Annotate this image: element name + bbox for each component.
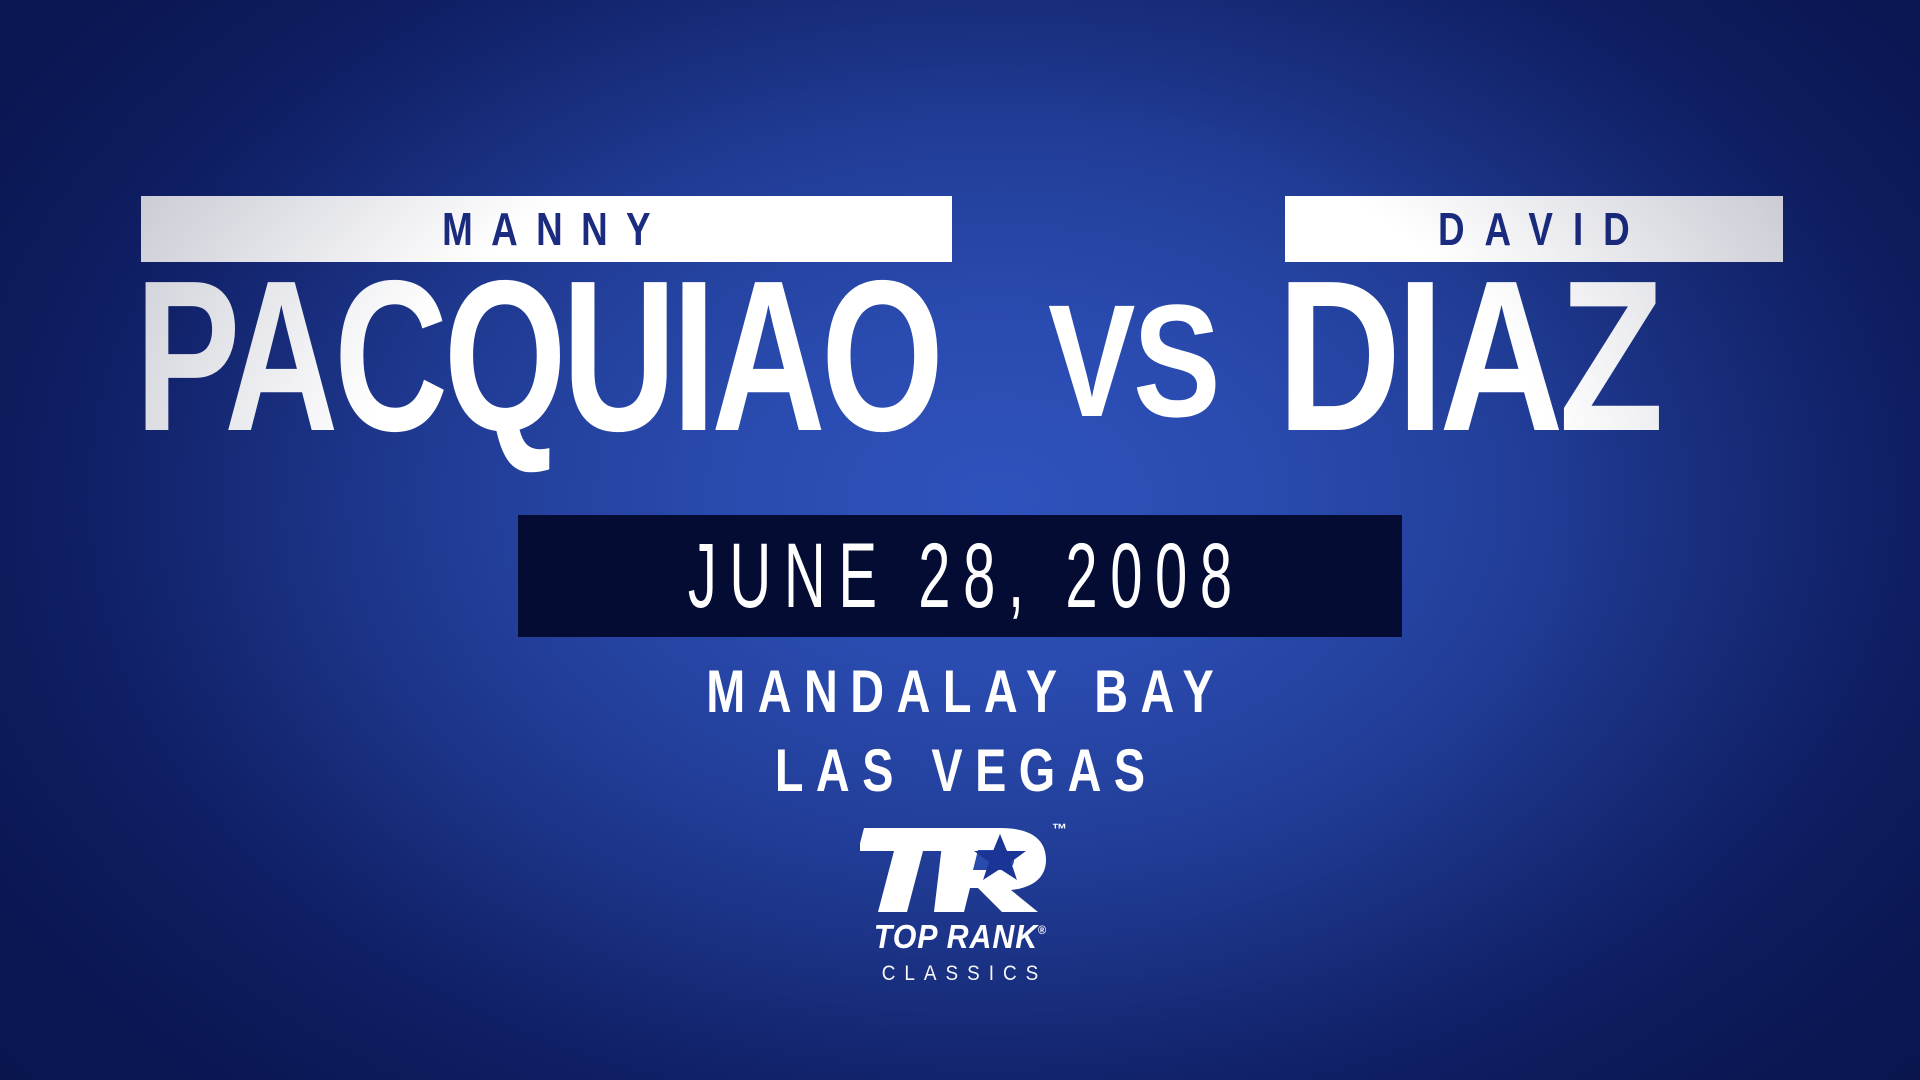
event-date-text: JUNE 28, 2008 — [675, 530, 1244, 622]
fighter-last-name-left: PACQUIAO — [135, 268, 735, 444]
registered-icon: ® — [1038, 923, 1046, 937]
fighter-block-left: MANNY PACQUIAO — [141, 196, 952, 444]
tr-monogram-icon: ™ — [860, 824, 1060, 916]
event-poster: MANNY PACQUIAO VS DAVID DIAZ JUNE 28, 20… — [0, 0, 1920, 1080]
top-rank-wordmark-text: TOP RANK — [874, 918, 1038, 955]
fighter-block-right: DAVID DIAZ — [1285, 196, 1783, 444]
event-venue: MANDALAY BAY LAS VEGAS — [0, 652, 1920, 810]
event-date-banner: JUNE 28, 2008 — [518, 515, 1402, 637]
top-rank-wordmark: TOP RANK® — [840, 920, 1079, 953]
classics-sublabel: CLASSICS — [843, 963, 1077, 984]
trademark-icon: ™ — [1052, 822, 1067, 837]
venue-name: MANDALAY BAY — [211, 652, 1709, 731]
tr-monogram-svg — [860, 824, 1060, 916]
fighter-last-name-right: DIAZ — [1277, 268, 1682, 444]
venue-city: LAS VEGAS — [211, 731, 1709, 810]
versus-label: VS — [1048, 281, 1218, 441]
top-rank-classics-logo: ™ TOP RANK® CLASSICS — [830, 824, 1090, 984]
